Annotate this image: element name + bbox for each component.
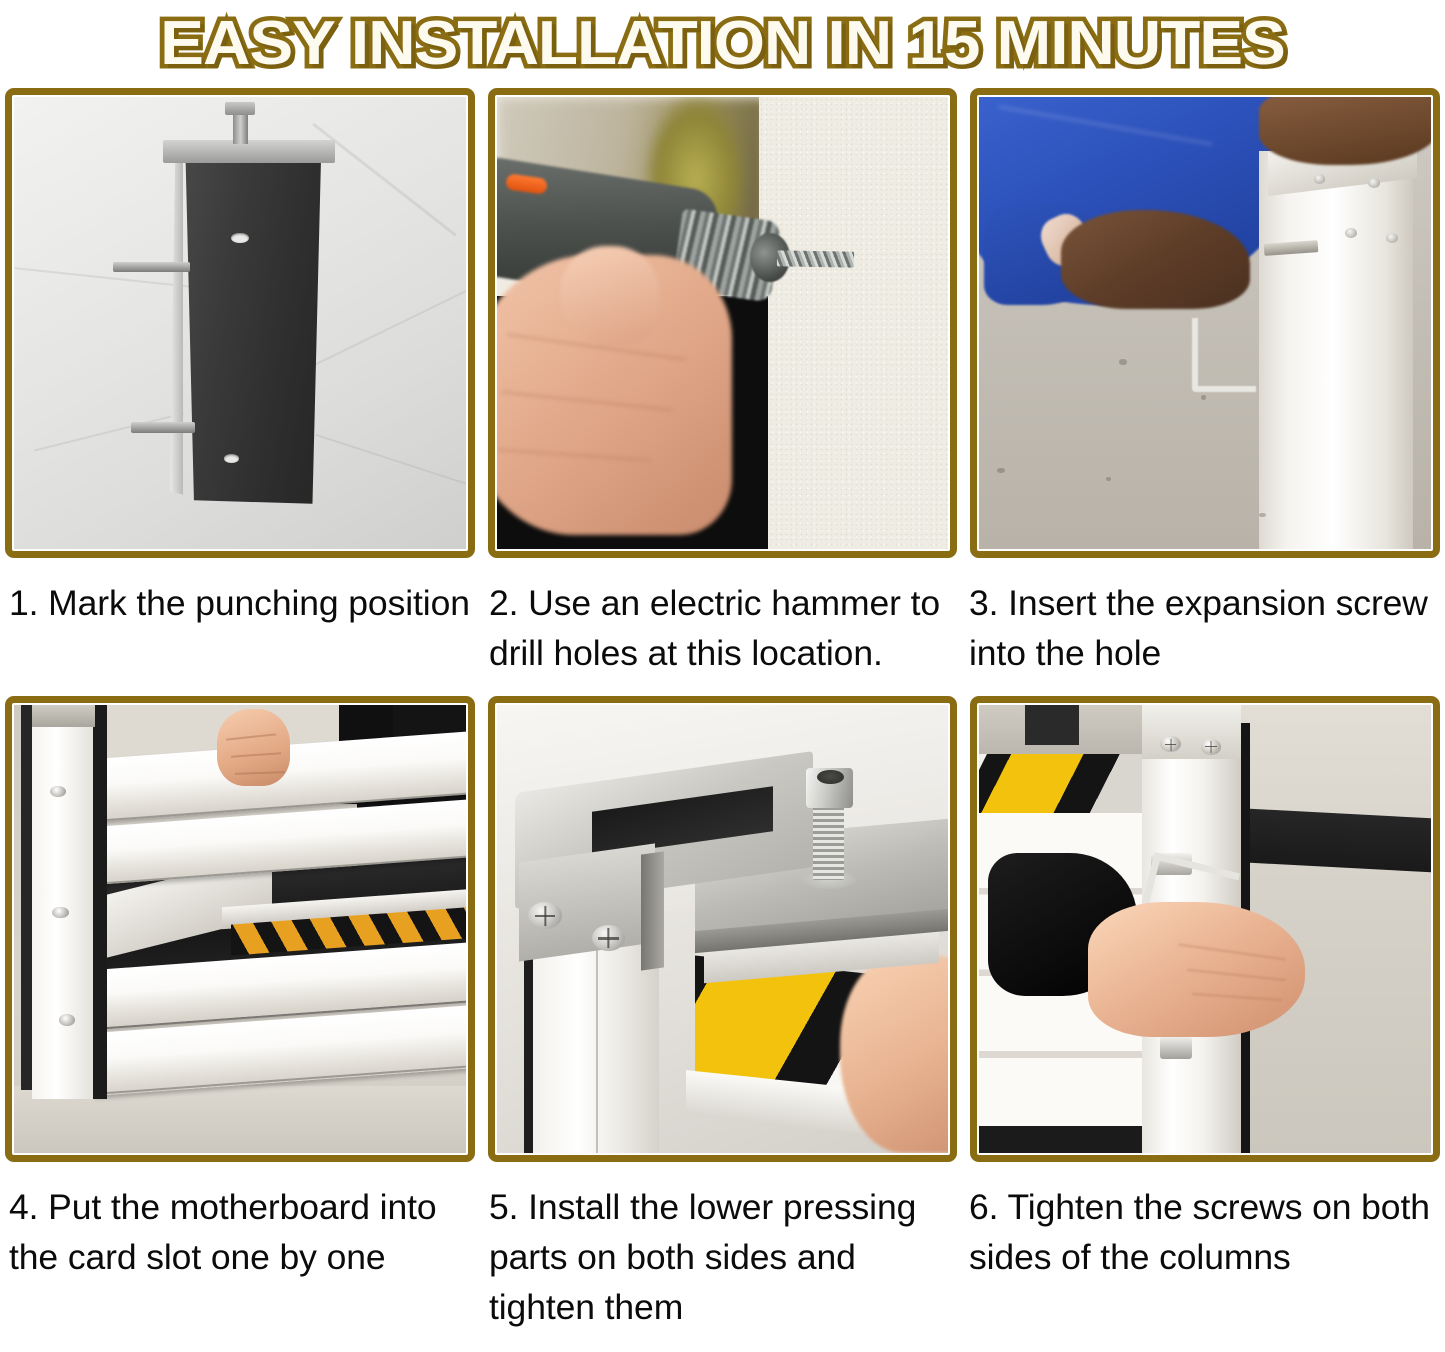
column-cap-plate xyxy=(163,140,335,163)
column-screw xyxy=(1345,228,1357,238)
page-title: EASY INSTALLATION IN 15 MINUTES xyxy=(160,12,1285,76)
column-screw xyxy=(1386,233,1398,243)
column-screw xyxy=(1314,174,1326,184)
caption-row-bottom: 4. Put the motherboard into the card slo… xyxy=(4,1162,1441,1309)
textured-wall xyxy=(759,97,949,549)
column-screw xyxy=(1368,178,1380,188)
step-2-photo-frame xyxy=(488,88,958,558)
step-1-caption: 1. Mark the punching position xyxy=(9,558,476,696)
step-5-cell xyxy=(488,696,958,1162)
hazard-stripe-tape xyxy=(979,754,1146,821)
phillips-screw xyxy=(528,902,562,929)
step-4-caption: 4. Put the motherboard into the card slo… xyxy=(9,1162,476,1309)
step-4-cell xyxy=(5,696,475,1162)
photo-row-bottom xyxy=(4,696,1441,1162)
white-column xyxy=(1259,151,1413,549)
step-6-photo-tighten-column-screws xyxy=(979,705,1431,1153)
step-6-photo-frame xyxy=(970,696,1440,1162)
step-1-photo-mark-punching-position xyxy=(14,97,466,549)
top-stud-nut xyxy=(225,102,255,116)
floor-speck xyxy=(1106,477,1111,481)
side-screw-lower xyxy=(1160,1037,1192,1059)
step-3-caption: 3. Insert the expansion screw into the h… xyxy=(969,558,1436,696)
floor-speck xyxy=(1201,395,1206,400)
step-3-cell xyxy=(970,88,1440,558)
step-2-cell xyxy=(488,88,958,558)
step-4-photo-insert-boards-into-slot xyxy=(14,705,466,1153)
fabric-fold xyxy=(316,434,466,486)
floor-speck xyxy=(1259,513,1265,518)
marking-stud-lower xyxy=(131,422,194,432)
column-slot-shadow xyxy=(93,705,107,1099)
drill-bit xyxy=(777,250,854,268)
step-4-photo-frame xyxy=(5,696,475,1162)
step-2-photo-drill-holes xyxy=(497,97,949,549)
photo-row-top xyxy=(4,88,1441,558)
floor-speck xyxy=(1119,359,1126,364)
header-title-bar: EASY INSTALLATION IN 15 MINUTES xyxy=(0,0,1445,88)
step-6-cell xyxy=(970,696,1440,1162)
step-5-photo-frame xyxy=(488,696,958,1162)
marking-stud-upper xyxy=(113,262,190,272)
column-screw xyxy=(52,907,68,919)
step-5-caption: 5. Install the lower pressing parts on b… xyxy=(489,1162,956,1309)
white-column xyxy=(32,705,95,1099)
hex-key-on-floor xyxy=(1192,318,1257,392)
floor-speck xyxy=(997,468,1004,473)
bracket-lip xyxy=(641,851,664,971)
step-2-caption: 2. Use an electric hammer to drill holes… xyxy=(489,558,956,696)
background-dark-patch xyxy=(1025,705,1079,745)
step-3-photo-insert-expansion-screw xyxy=(979,97,1431,549)
column-side-lip xyxy=(170,156,184,495)
column-screw xyxy=(59,1014,75,1026)
caption-row-top: 1. Mark the punching position 2. Use an … xyxy=(4,558,1441,696)
step-1-cell xyxy=(5,88,475,558)
column-cap xyxy=(1142,705,1241,759)
phillips-screw xyxy=(1201,739,1222,755)
installation-steps-grid: 1. Mark the punching position 2. Use an … xyxy=(0,88,1445,1309)
step-3-photo-frame xyxy=(970,88,1440,558)
step-1-photo-frame xyxy=(5,88,475,558)
hand-upper xyxy=(1259,97,1431,165)
column-post xyxy=(177,147,322,504)
step-6-caption: 6. Tighten the screws on both sides of t… xyxy=(969,1162,1436,1309)
step-5-photo-install-lower-pressing-parts xyxy=(497,705,949,1153)
bolt-thread xyxy=(813,804,845,880)
column-cap xyxy=(32,705,95,727)
wall-skirting xyxy=(1232,807,1431,871)
